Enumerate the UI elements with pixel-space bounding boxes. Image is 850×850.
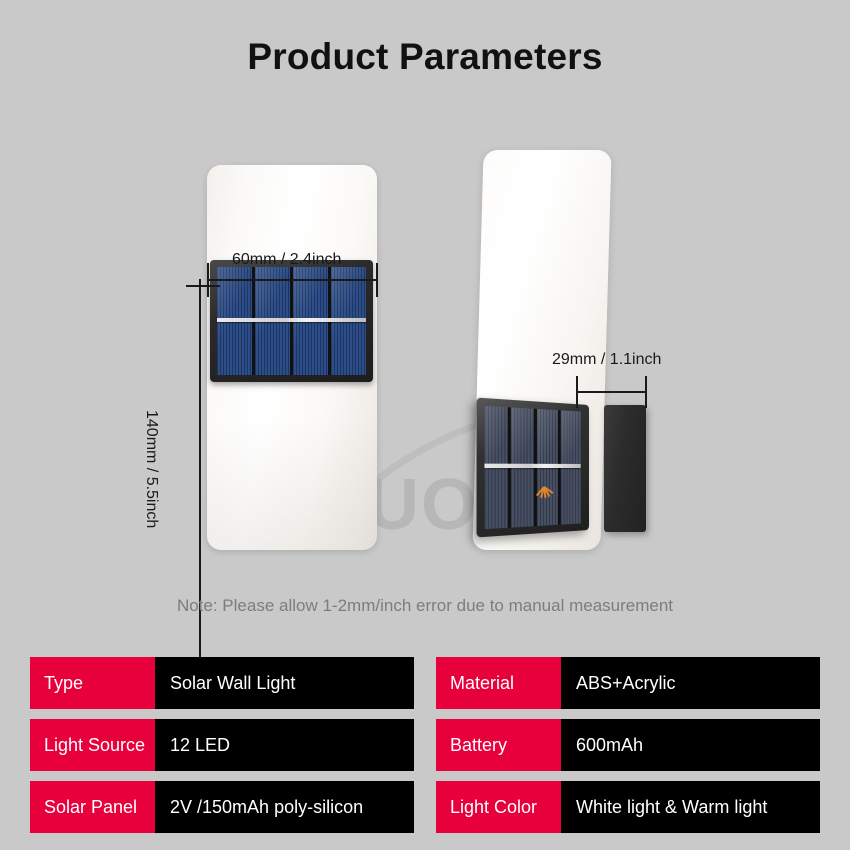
dimension-label-depth: 29mm / 1.1inch	[552, 351, 661, 369]
table-row: Light Source 12 LED Battery 600mAh	[30, 719, 820, 771]
solar-busbar	[484, 464, 580, 468]
spec-value-solar-panel: 2V /150mAh poly-silicon	[155, 781, 414, 833]
spec-label-material: Material	[436, 657, 561, 709]
spec-pair-battery: Battery 600mAh	[436, 719, 820, 771]
solar-panel-perspective	[477, 398, 589, 538]
product-diagram: AUOYO	[0, 120, 850, 580]
solar-cell-grid	[484, 406, 580, 529]
spec-label-light-source: Light Source	[30, 719, 155, 771]
spec-table: Type Solar Wall Light Material ABS+Acryl…	[30, 657, 820, 833]
dimension-line-width	[207, 279, 378, 281]
dimension-line-depth	[576, 391, 647, 393]
table-row: Solar Panel 2V /150mAh poly-silicon Ligh…	[30, 781, 820, 833]
measurement-note: Note: Please allow 1-2mm/inch error due …	[0, 596, 850, 616]
spec-value-type: Solar Wall Light	[155, 657, 414, 709]
spec-value-light-source: 12 LED	[155, 719, 414, 771]
spec-pair-light-color: Light Color White light & Warm light	[436, 781, 820, 833]
spec-pair-material: Material ABS+Acrylic	[436, 657, 820, 709]
spec-label-solar-panel: Solar Panel	[30, 781, 155, 833]
spec-value-material: ABS+Acrylic	[561, 657, 820, 709]
dimension-tick-depth-left	[576, 376, 578, 408]
table-row: Type Solar Wall Light Material ABS+Acryl…	[30, 657, 820, 709]
page-title: Product Parameters	[0, 36, 850, 78]
spec-label-battery: Battery	[436, 719, 561, 771]
dimension-label-height: 140mm / 5.5inch	[142, 410, 160, 560]
lamp-depth-block	[604, 405, 646, 532]
dimension-tick-depth-right	[645, 376, 647, 408]
spec-label-type: Type	[30, 657, 155, 709]
spec-pair-light-source: Light Source 12 LED	[30, 719, 414, 771]
spec-label-light-color: Light Color	[436, 781, 561, 833]
solar-cell-grid	[217, 267, 366, 375]
dimension-tick-width-left	[207, 263, 209, 297]
spec-value-light-color: White light & Warm light	[561, 781, 820, 833]
spec-value-battery: 600mAh	[561, 719, 820, 771]
spec-pair-type: Type Solar Wall Light	[30, 657, 414, 709]
solar-busbar	[217, 318, 366, 322]
spec-pair-solar-panel: Solar Panel 2V /150mAh poly-silicon	[30, 781, 414, 833]
dimension-tick-width-right	[376, 263, 378, 297]
dimension-label-width: 60mm / 2.4inch	[232, 251, 341, 269]
dimension-tick-height-top	[186, 285, 214, 287]
